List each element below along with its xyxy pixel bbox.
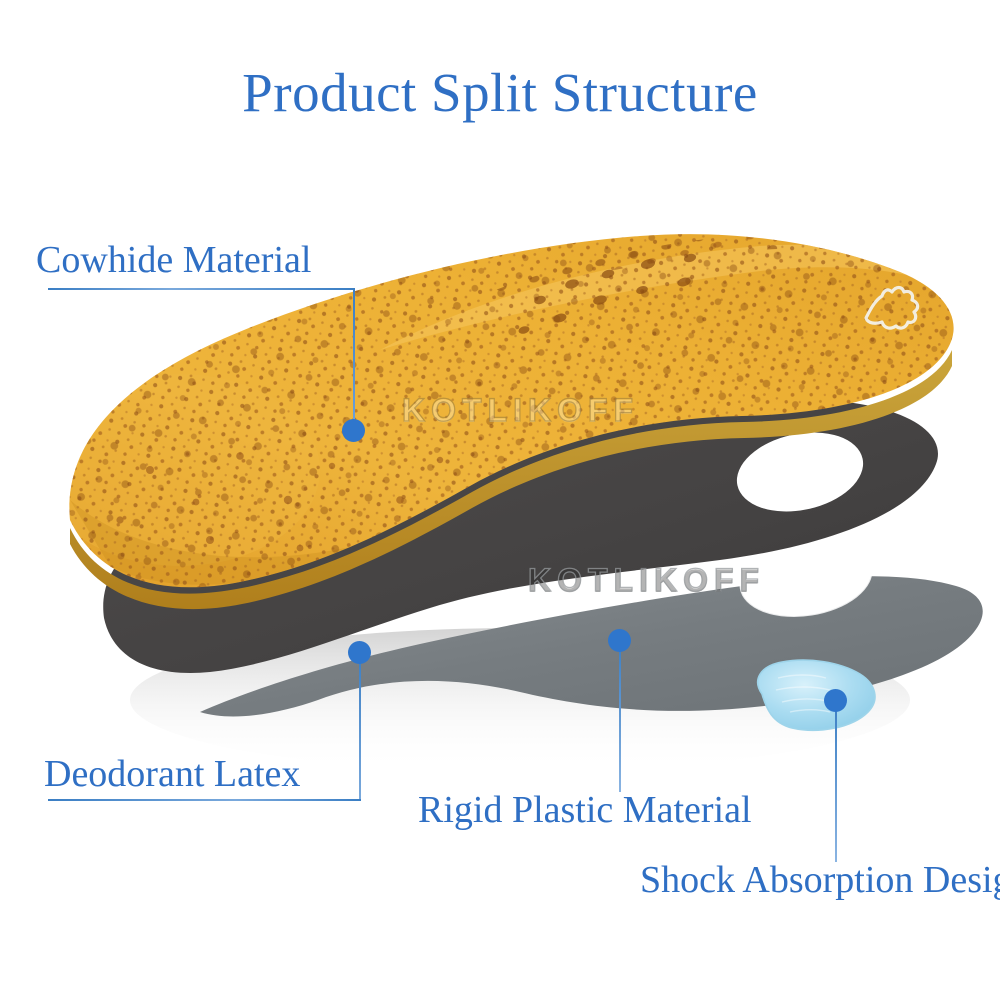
leader-line-cowhide-vertical — [353, 288, 355, 430]
product-exploded-illustration: KOTLIKOFF KOTLIKOFF — [0, 0, 1000, 1000]
callout-label-shock-absorption: Shock Absorption Design — [640, 858, 1000, 902]
leader-line-shock-absorption — [835, 700, 837, 862]
product-infographic: KOTLIKOFF KOTLIKOFF Product Split Struct… — [0, 0, 1000, 1000]
callout-dot-cowhide[interactable] — [342, 419, 365, 442]
callout-label-rigid-plastic: Rigid Plastic Material — [418, 788, 752, 832]
callout-dot-latex[interactable] — [348, 641, 371, 664]
leader-line-latex-vertical — [359, 652, 361, 800]
leader-line-cowhide-horizontal — [48, 288, 354, 290]
leader-line-latex-horizontal — [48, 799, 361, 801]
callout-label-latex: Deodorant Latex — [44, 752, 300, 796]
leader-line-rigid-plastic — [619, 640, 621, 792]
callout-dot-rigid-plastic[interactable] — [608, 629, 631, 652]
callout-label-cowhide: Cowhide Material — [36, 238, 311, 282]
page-title: Product Split Structure — [0, 62, 1000, 124]
callout-dot-shock-absorption[interactable] — [824, 689, 847, 712]
